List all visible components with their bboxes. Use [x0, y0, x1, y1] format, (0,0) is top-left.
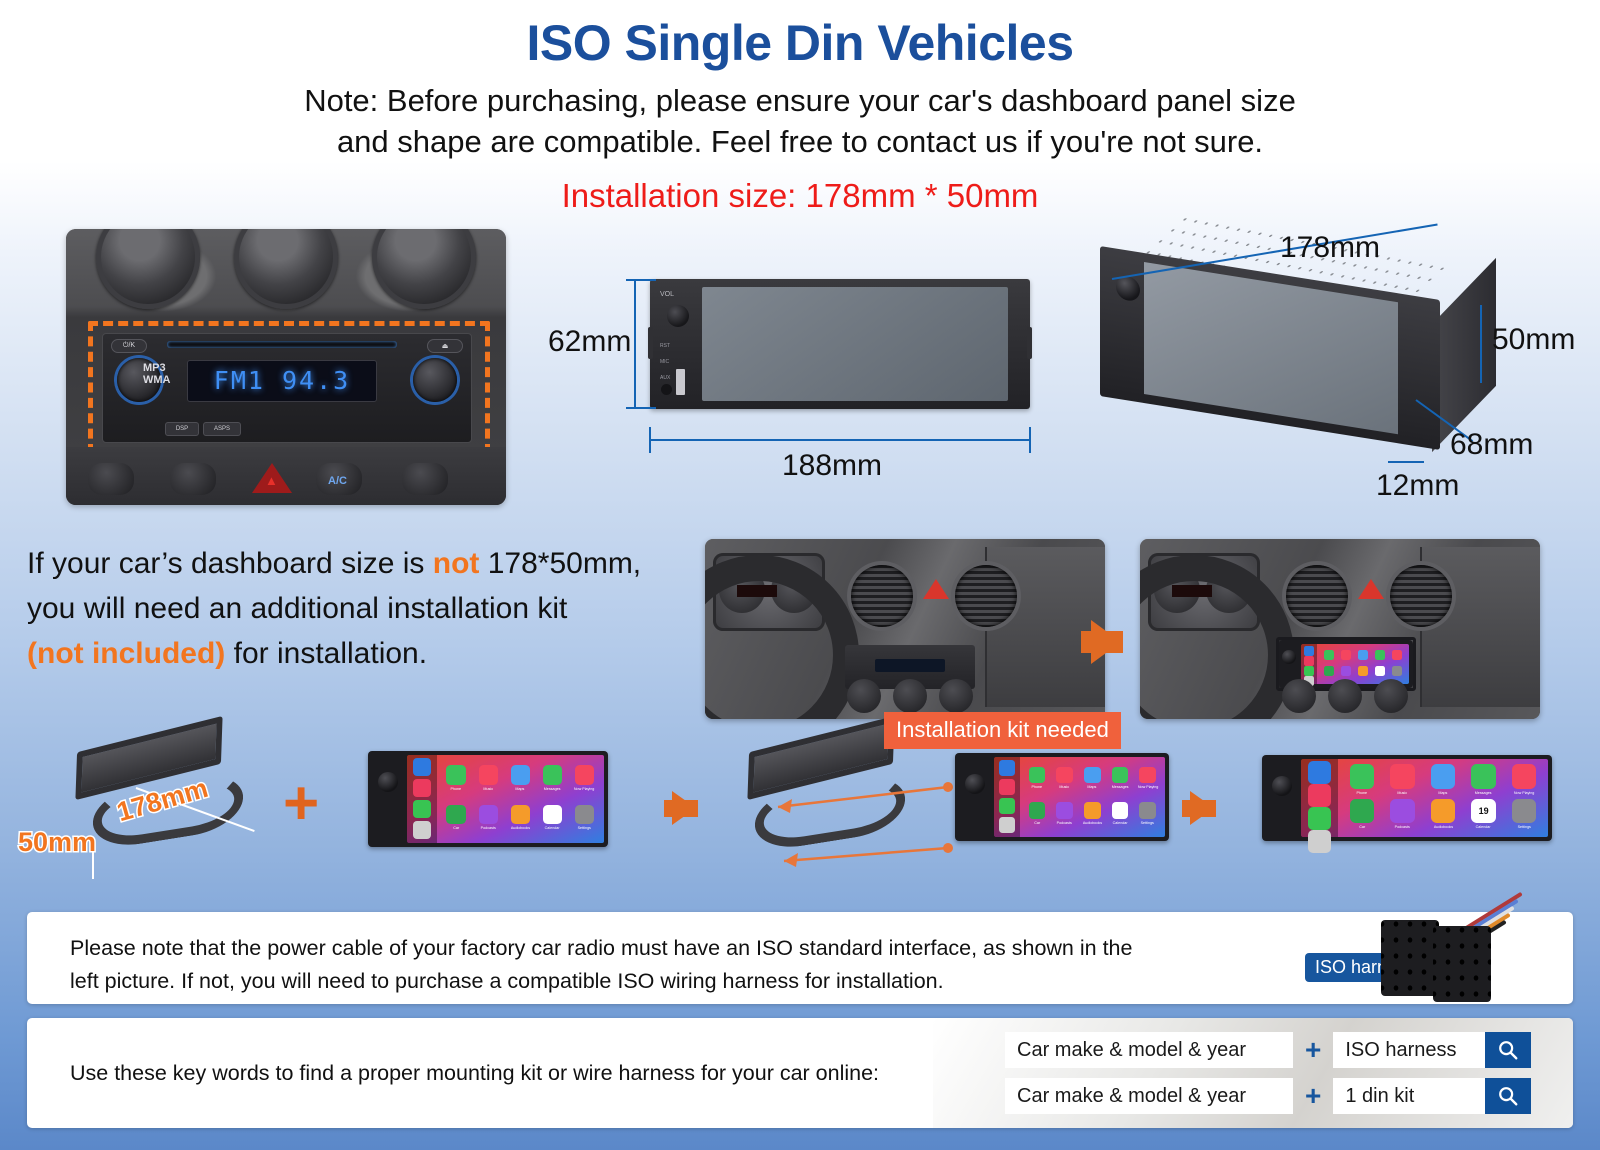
kit-line1-a: If your car’s dashboard size is [27, 547, 433, 580]
app-music[interactable]: Music [1383, 763, 1423, 797]
air-vent-icon [1390, 565, 1452, 627]
app-now-playing[interactable]: Now Playing [1504, 763, 1544, 797]
front-dimension-diagram: VOL RST MIC AUX 62mm 188mm [560, 243, 1060, 503]
app-now-playing[interactable] [1389, 648, 1405, 663]
harness-note-line2: left picture. If not, you will need to p… [70, 969, 944, 993]
car-info-field-2[interactable]: Car make & model & year [1005, 1078, 1293, 1114]
harness-note-text: Please note that the power cable of your… [70, 932, 1250, 999]
length-dim-label: 178mm [1280, 231, 1380, 265]
air-vent-icon [1286, 565, 1348, 627]
app-label: Messages [1475, 790, 1492, 795]
harness-plug [1433, 926, 1491, 1002]
app-calendar[interactable] [1372, 663, 1388, 678]
app-label: Now Playing [574, 786, 594, 791]
plus-sign: + [283, 773, 319, 835]
car-interior-before-photo [705, 539, 1105, 719]
search-row-din-kit: Car make & model & year + 1 din kit [1005, 1078, 1531, 1114]
width-dim-label: 188mm [782, 449, 882, 483]
chassis-side [1432, 258, 1496, 452]
rst-label: RST [660, 343, 670, 349]
app-label: Calendar [1476, 825, 1491, 830]
app-messages[interactable] [1372, 648, 1388, 663]
climate-knob [939, 679, 973, 713]
app-label: Settings [1518, 825, 1531, 830]
kit-height-label: 50mm [18, 827, 96, 858]
app-label: Maps [1439, 790, 1448, 795]
sequence-arrow-icon [672, 791, 696, 825]
ac-label: A/C [328, 475, 347, 487]
keyword-field-din-kit[interactable]: 1 din kit [1333, 1078, 1485, 1114]
kit-line1-c: 178*50mm, [479, 547, 641, 580]
app-settings[interactable] [1389, 663, 1405, 678]
display-screen [1144, 262, 1398, 434]
mounting-ear [1027, 327, 1032, 359]
climate-knob [1374, 679, 1408, 713]
volume-knob[interactable] [1272, 776, 1292, 796]
search-button-2[interactable] [1485, 1078, 1531, 1114]
music-icon[interactable] [1308, 784, 1331, 807]
app-podcasts[interactable]: Podcasts [1383, 797, 1423, 831]
maps-icon[interactable] [413, 758, 431, 776]
purchase-note: Note: Before purchasing, please ensure y… [0, 81, 1600, 163]
radio-display [875, 659, 945, 672]
installation-kit-needed-badge: Installation kit needed [884, 712, 1121, 749]
climate-control-row [1280, 679, 1410, 713]
app-music[interactable] [1338, 648, 1354, 663]
harness-note-line1: Please note that the power cable of your… [70, 936, 1132, 960]
plus-sign: + [1293, 1034, 1333, 1066]
app-label: Settings [1141, 820, 1154, 825]
app-label: Audiobooks [1083, 820, 1102, 825]
carplay-screen: Phone Music Maps Messages Now Playing Ca… [1301, 759, 1548, 837]
app-now-playing[interactable]: Now Playing [1134, 761, 1161, 796]
app-settings[interactable]: Settings [1504, 797, 1544, 831]
climate-control-row [845, 679, 975, 713]
carplay-sidebar [1301, 644, 1317, 684]
app-podcasts[interactable]: Podcasts [473, 798, 504, 837]
app-phone[interactable]: Phone [1024, 761, 1051, 796]
app-label: Phone [1357, 790, 1368, 795]
app-car[interactable]: Car [441, 798, 472, 837]
mounting-kit-parts: 178mm 50mm [40, 733, 270, 873]
carplay-app-grid: Phone Music Maps Messages Now Playing Ca… [1338, 759, 1548, 837]
kit-line1-not: not [433, 547, 480, 580]
plus-sign: + [1293, 1080, 1333, 1112]
app-audiobooks[interactable]: Audiobooks [1423, 797, 1463, 831]
app-maps[interactable]: Maps [1079, 761, 1106, 796]
app-label: Now Playing [1514, 790, 1534, 795]
height-dim-label: 62mm [548, 325, 631, 359]
mounting-ear [648, 327, 653, 359]
carplay-app-grid: Phone Music Maps Messages Now Playing Ca… [437, 755, 604, 843]
dash-button [402, 463, 448, 495]
width-dim-line [650, 439, 1030, 441]
display-screen [702, 287, 1008, 401]
list-icon[interactable] [413, 821, 431, 839]
car-interior-after-photo [1140, 539, 1540, 719]
app-label: Settings [578, 825, 591, 830]
app-podcasts[interactable]: Podcasts [1051, 796, 1078, 831]
factory-radio-photo: ⏻/K ⏏ MP3 WMA FM1 94.3 DSP ASPS A/C [66, 229, 506, 505]
app-label: Music [1060, 785, 1070, 790]
carplay-app-grid [1317, 644, 1409, 684]
app-phone[interactable] [1321, 648, 1337, 663]
carplay-unit-step1: Phone Music Maps Messages Now Playing Ca… [368, 751, 608, 847]
carplay-unit-step2: Phone Music Maps Messages Now Playing Ca… [955, 753, 1169, 841]
app-label: Maps [1088, 785, 1097, 790]
mic-label: MIC [660, 359, 669, 365]
search-button-1[interactable] [1485, 1032, 1531, 1068]
iso-harness-connector-photo [1347, 890, 1537, 1002]
volume-knob[interactable] [378, 772, 398, 792]
dash-button [170, 463, 216, 495]
app-label: Car [453, 825, 459, 830]
carplay-sidebar [407, 755, 437, 843]
app-label: Audiobooks [511, 825, 530, 830]
vol-label: VOL [660, 291, 674, 298]
air-vent-icon [851, 565, 913, 627]
kit-line3-b: for installation. [225, 637, 427, 670]
height-dim-tick [626, 279, 656, 281]
climate-knob [1282, 679, 1316, 713]
installation-size-text: Installation size: 178mm * 50mm [0, 177, 1600, 215]
transition-arrow-icon [1091, 620, 1121, 664]
app-audiobooks[interactable]: Audiobooks [1079, 796, 1106, 831]
climate-knob [893, 679, 927, 713]
app-label: Messages [544, 786, 561, 791]
app-label: Podcasts [1395, 825, 1410, 830]
app-label: Phone [451, 786, 462, 791]
aux-jack [661, 384, 672, 395]
app-calendar[interactable]: Calendar [1107, 796, 1134, 831]
app-messages[interactable]: Messages [537, 759, 568, 798]
kit-not-included: (not included) [27, 637, 225, 670]
volume-knob[interactable] [1282, 650, 1296, 664]
app-settings[interactable]: Settings [569, 798, 600, 837]
depth-dim-label: 68mm [1450, 428, 1533, 462]
app-audiobooks[interactable] [1355, 663, 1371, 678]
app-podcasts[interactable] [1338, 663, 1354, 678]
keywords-instruction-text: Use these key words to find a proper mou… [70, 1061, 879, 1086]
installation-kit-row: If your car’s dashboard size is not 178*… [0, 529, 1600, 729]
harness-plug [1381, 920, 1439, 996]
width-dim-tick [649, 427, 651, 453]
app-label: Music [1398, 790, 1408, 795]
app-label: Music [483, 786, 493, 791]
assembly-arrows [718, 735, 978, 875]
unit-controls-column [960, 758, 994, 836]
app-music[interactable]: Music [473, 759, 504, 798]
aux-label: AUX [660, 375, 670, 381]
app-phone[interactable]: Phone [441, 759, 472, 798]
usb-port [676, 369, 685, 395]
phone-icon[interactable] [413, 800, 431, 818]
phone-icon[interactable] [999, 798, 1015, 814]
isometric-dimension-diagram: 178mm 50mm 68mm 12mm [1080, 233, 1590, 513]
app-audiobooks[interactable]: Audiobooks [505, 798, 536, 837]
app-label: Car [1359, 825, 1365, 830]
dash-button [88, 463, 134, 495]
music-icon[interactable] [413, 779, 431, 797]
maps-icon[interactable] [1304, 646, 1314, 656]
list-icon[interactable] [1308, 830, 1331, 853]
kit-line2: you will need an additional installation… [27, 592, 567, 625]
app-label: Phone [1032, 785, 1043, 790]
app-label: Car [1034, 820, 1040, 825]
app-label: Calendar [545, 825, 560, 830]
app-calendar[interactable]: 19Calendar [1464, 797, 1504, 831]
app-car[interactable]: Car [1024, 796, 1051, 831]
search-icon [1497, 1085, 1519, 1107]
app-label: Messages [1112, 785, 1129, 790]
maps-icon[interactable] [999, 760, 1015, 776]
app-car[interactable]: Car [1342, 797, 1382, 831]
app-messages[interactable]: Messages [1107, 761, 1134, 796]
app-now-playing[interactable]: Now Playing [569, 759, 600, 798]
height-dim-line [1480, 305, 1482, 383]
sequence-arrow-icon [1190, 791, 1214, 825]
dimension-row: ⏻/K ⏏ MP3 WMA FM1 94.3 DSP ASPS A/C [0, 223, 1600, 523]
search-icon [1497, 1039, 1519, 1061]
app-settings[interactable]: Settings [1134, 796, 1161, 831]
face-depth-dim-line [1388, 461, 1424, 463]
installation-sequence-row: 178mm 50mm + Phone Music Maps Messages N… [0, 729, 1600, 879]
app-label: Podcasts [481, 825, 496, 830]
app-label: Maps [516, 786, 525, 791]
carplay-sidebar [1301, 759, 1338, 837]
note-line-2: and shape are compatible. Feel free to c… [337, 124, 1263, 159]
music-icon[interactable] [999, 779, 1015, 795]
hazard-light-icon [923, 579, 949, 599]
app-maps[interactable]: Maps [1423, 763, 1463, 797]
keyword-field-iso-harness[interactable]: ISO harness [1333, 1032, 1485, 1068]
phone-icon[interactable] [1308, 807, 1331, 830]
app-phone[interactable]: Phone [1342, 763, 1382, 797]
phone-icon[interactable] [1304, 666, 1314, 676]
carplay-screen: Phone Music Maps Messages Now Playing Ca… [407, 755, 604, 843]
app-label: Podcasts [1057, 820, 1072, 825]
unit-controls-column [1267, 760, 1301, 836]
height-dim-tick [626, 407, 656, 409]
width-dim-tick [1029, 427, 1031, 453]
unit-controls-column [373, 756, 407, 842]
climate-knob [1328, 679, 1362, 713]
app-car[interactable] [1321, 663, 1337, 678]
carplay-screen [1301, 644, 1409, 684]
height-dim-line [634, 279, 636, 409]
carplay-app-grid: Phone Music Maps Messages Now Playing Ca… [1020, 757, 1165, 837]
car-info-field-1[interactable]: Car make & model & year [1005, 1032, 1293, 1068]
app-label: Now Playing [1137, 785, 1157, 790]
volume-knob[interactable] [965, 774, 985, 794]
carplay-sidebar [994, 757, 1020, 837]
dashboard-lower-panel: A/C [66, 447, 506, 505]
climate-knob [847, 679, 881, 713]
app-maps[interactable] [1355, 648, 1371, 663]
installation-opening-highlight [88, 321, 490, 454]
list-icon[interactable] [999, 817, 1015, 833]
iso-harness-note-box: Please note that the power cable of your… [27, 912, 1573, 1004]
height-dim-label: 50mm [1492, 323, 1575, 357]
app-label: Audiobooks [1433, 825, 1452, 830]
carplay-screen: Phone Music Maps Messages Now Playing Ca… [994, 757, 1165, 837]
kit-explanation-text: If your car’s dashboard size is not 178*… [27, 541, 687, 676]
hazard-light-icon [252, 463, 292, 493]
search-row-iso-harness: Car make & model & year + ISO harness [1005, 1032, 1531, 1068]
air-vent-icon [955, 565, 1017, 627]
maps-icon[interactable] [1308, 761, 1331, 784]
app-calendar[interactable]: Calendar [537, 798, 568, 837]
note-line-1: Note: Before purchasing, please ensure y… [304, 83, 1296, 118]
radio-front-view: VOL RST MIC AUX [650, 279, 1030, 409]
app-maps[interactable]: Maps [505, 759, 536, 798]
page-title: ISO Single Din Vehicles [0, 0, 1600, 69]
app-messages[interactable]: Messages [1464, 763, 1504, 797]
volume-knob [667, 305, 689, 327]
hazard-light-icon [1358, 579, 1384, 599]
app-label: Calendar [1113, 820, 1128, 825]
music-icon[interactable] [1304, 656, 1314, 666]
app-music[interactable]: Music [1051, 761, 1078, 796]
carplay-unit-final: Phone Music Maps Messages Now Playing Ca… [1262, 755, 1552, 841]
face-depth-dim-label: 12mm [1376, 469, 1459, 503]
